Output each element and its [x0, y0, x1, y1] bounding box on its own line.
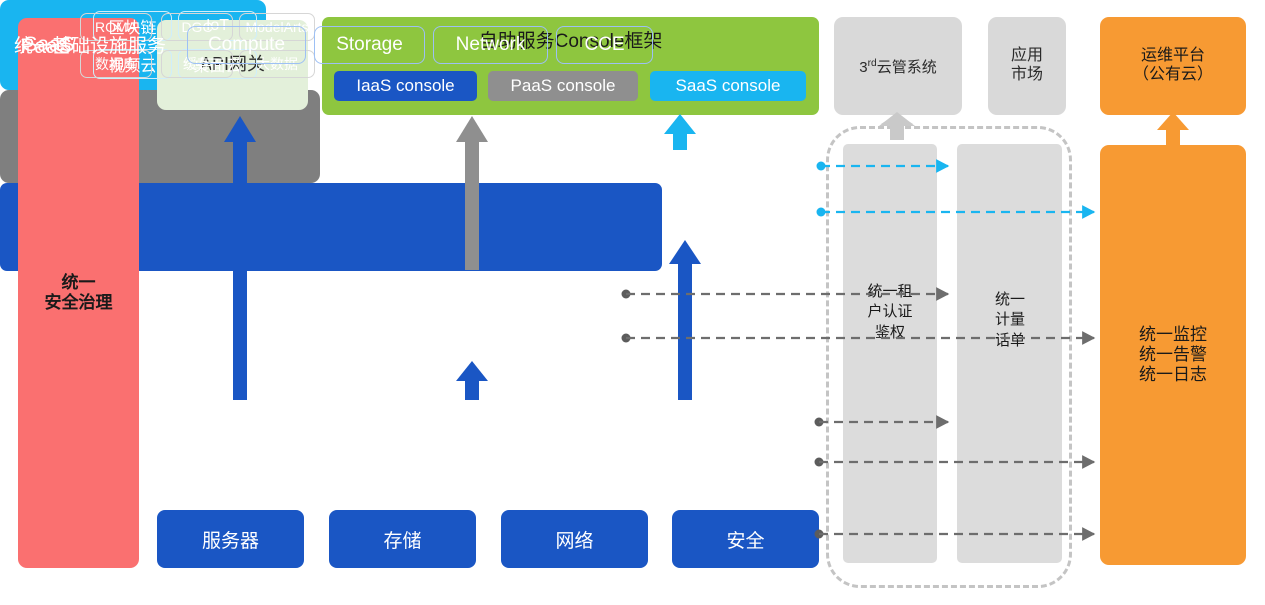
infra-service-storage[interactable]: Storage — [314, 26, 425, 64]
ops-platform-public-cloud-box: 运维平台 （公有云） — [1100, 17, 1246, 115]
hardware-server-box[interactable]: 服务器 — [157, 510, 304, 568]
arrow-infra-to-paas — [456, 361, 488, 400]
hardware-security-box[interactable]: 安全 — [672, 510, 819, 568]
iaas-console-chip[interactable]: IaaS console — [334, 71, 477, 101]
third-party-cloud-management-box: 3rd云管系统 — [834, 17, 962, 115]
unified-monitoring-panel: 统一监控 统一告警 统一日志 — [1100, 145, 1246, 565]
unified-tenant-auth-column — [843, 144, 937, 563]
infra-service-network[interactable]: Network — [433, 26, 548, 64]
app-market-box: 应用 市场 — [988, 17, 1066, 115]
ordinal-superscript: rd — [868, 58, 877, 69]
unified-metering-label: 统一 计量 话单 — [962, 290, 1058, 351]
infra-service-cce[interactable]: CCE — [556, 26, 653, 64]
arrow-infra-to-saas — [669, 240, 701, 400]
ops-platform-public-cloud-label: 运维平台 （公有云） — [1133, 47, 1213, 85]
app-market-label: 应用 市场 — [1011, 47, 1043, 85]
unified-infrastructure-service-label: 统一基础设施服务 — [14, 0, 166, 88]
unified-security-governance-panel: 统一 安全治理 — [18, 18, 139, 568]
unified-metering-column — [957, 144, 1062, 563]
unified-tenant-auth-label: 统一租 户认证 鉴权 — [843, 282, 937, 343]
arrow-saas-to-console — [664, 114, 696, 150]
infra-service-compute[interactable]: Compute — [187, 26, 306, 64]
architecture-diagram: 统一 安全治理 API网关 自助服务Console框架 IaaS console… — [0, 0, 1265, 605]
arrow-ops-right-to-ops-platform — [1157, 112, 1189, 146]
hardware-storage-box[interactable]: 存储 — [329, 510, 476, 568]
paas-console-chip[interactable]: PaaS console — [488, 71, 638, 101]
third-party-cloud-label: 3rd云管系统 — [859, 56, 936, 77]
unified-security-governance-label: 统一 安全治理 — [45, 273, 113, 313]
saas-console-chip[interactable]: SaaS console — [650, 71, 806, 101]
hardware-network-box[interactable]: 网络 — [501, 510, 648, 568]
unified-monitoring-label: 统一监控 统一告警 统一日志 — [1139, 325, 1207, 385]
